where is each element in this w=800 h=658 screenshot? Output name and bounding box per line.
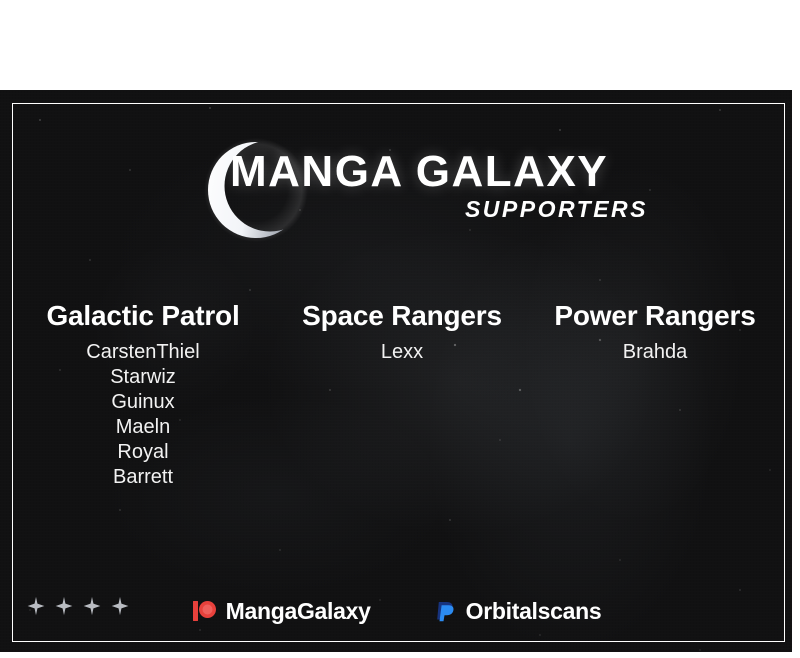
list-item: Lexx — [284, 340, 520, 365]
starfield-panel: MANGA GALAXY SUPPORTERS Galactic Patrol … — [0, 90, 792, 652]
tier-title: Power Rangers — [530, 300, 780, 332]
brand-label: Orbitalscans — [466, 598, 602, 625]
tier-member-list: Lexx — [284, 340, 520, 365]
brand-row: MangaGalaxy Orbitalscans — [12, 588, 780, 634]
logo-subtitle: SUPPORTERS — [230, 198, 660, 221]
supporter-columns: Galactic Patrol CarstenThiel Starwiz Gui… — [12, 300, 780, 490]
list-item: Maeln — [12, 415, 274, 440]
list-item: Royal — [12, 440, 274, 465]
tier-column-galactic-patrol: Galactic Patrol CarstenThiel Starwiz Gui… — [12, 300, 274, 490]
footer: MangaGalaxy Orbitalscans — [12, 588, 780, 634]
tier-member-list: CarstenThiel Starwiz Guinux Maeln Royal … — [12, 340, 274, 490]
tier-member-list: Brahda — [530, 340, 780, 365]
list-item: CarstenThiel — [12, 340, 274, 365]
logo-wordmark: MANGA GALAXY SUPPORTERS — [230, 150, 660, 221]
tier-column-power-rangers: Power Rangers Brahda — [530, 300, 780, 365]
tier-title: Space Rangers — [284, 300, 520, 332]
logo-title: MANGA GALAXY — [230, 150, 660, 194]
brand-mangagalaxy[interactable]: MangaGalaxy — [191, 598, 371, 625]
page-margin-right — [792, 90, 800, 658]
list-item: Brahda — [530, 340, 780, 365]
tier-title: Galactic Patrol — [12, 300, 274, 332]
list-item: Guinux — [12, 390, 274, 415]
brand-label: MangaGalaxy — [226, 598, 371, 625]
masthead: MANGA GALAXY SUPPORTERS — [0, 120, 792, 250]
tier-column-space-rangers: Space Rangers Lexx — [284, 300, 520, 365]
list-item: Starwiz — [12, 365, 274, 390]
patreon-icon — [191, 598, 217, 624]
supporters-page: MANGA GALAXY SUPPORTERS Galactic Patrol … — [0, 0, 800, 658]
paypal-icon — [431, 598, 457, 624]
list-item: Barrett — [12, 465, 274, 490]
brand-orbitalscans[interactable]: Orbitalscans — [431, 598, 602, 625]
page-margin-bottom — [0, 652, 800, 658]
